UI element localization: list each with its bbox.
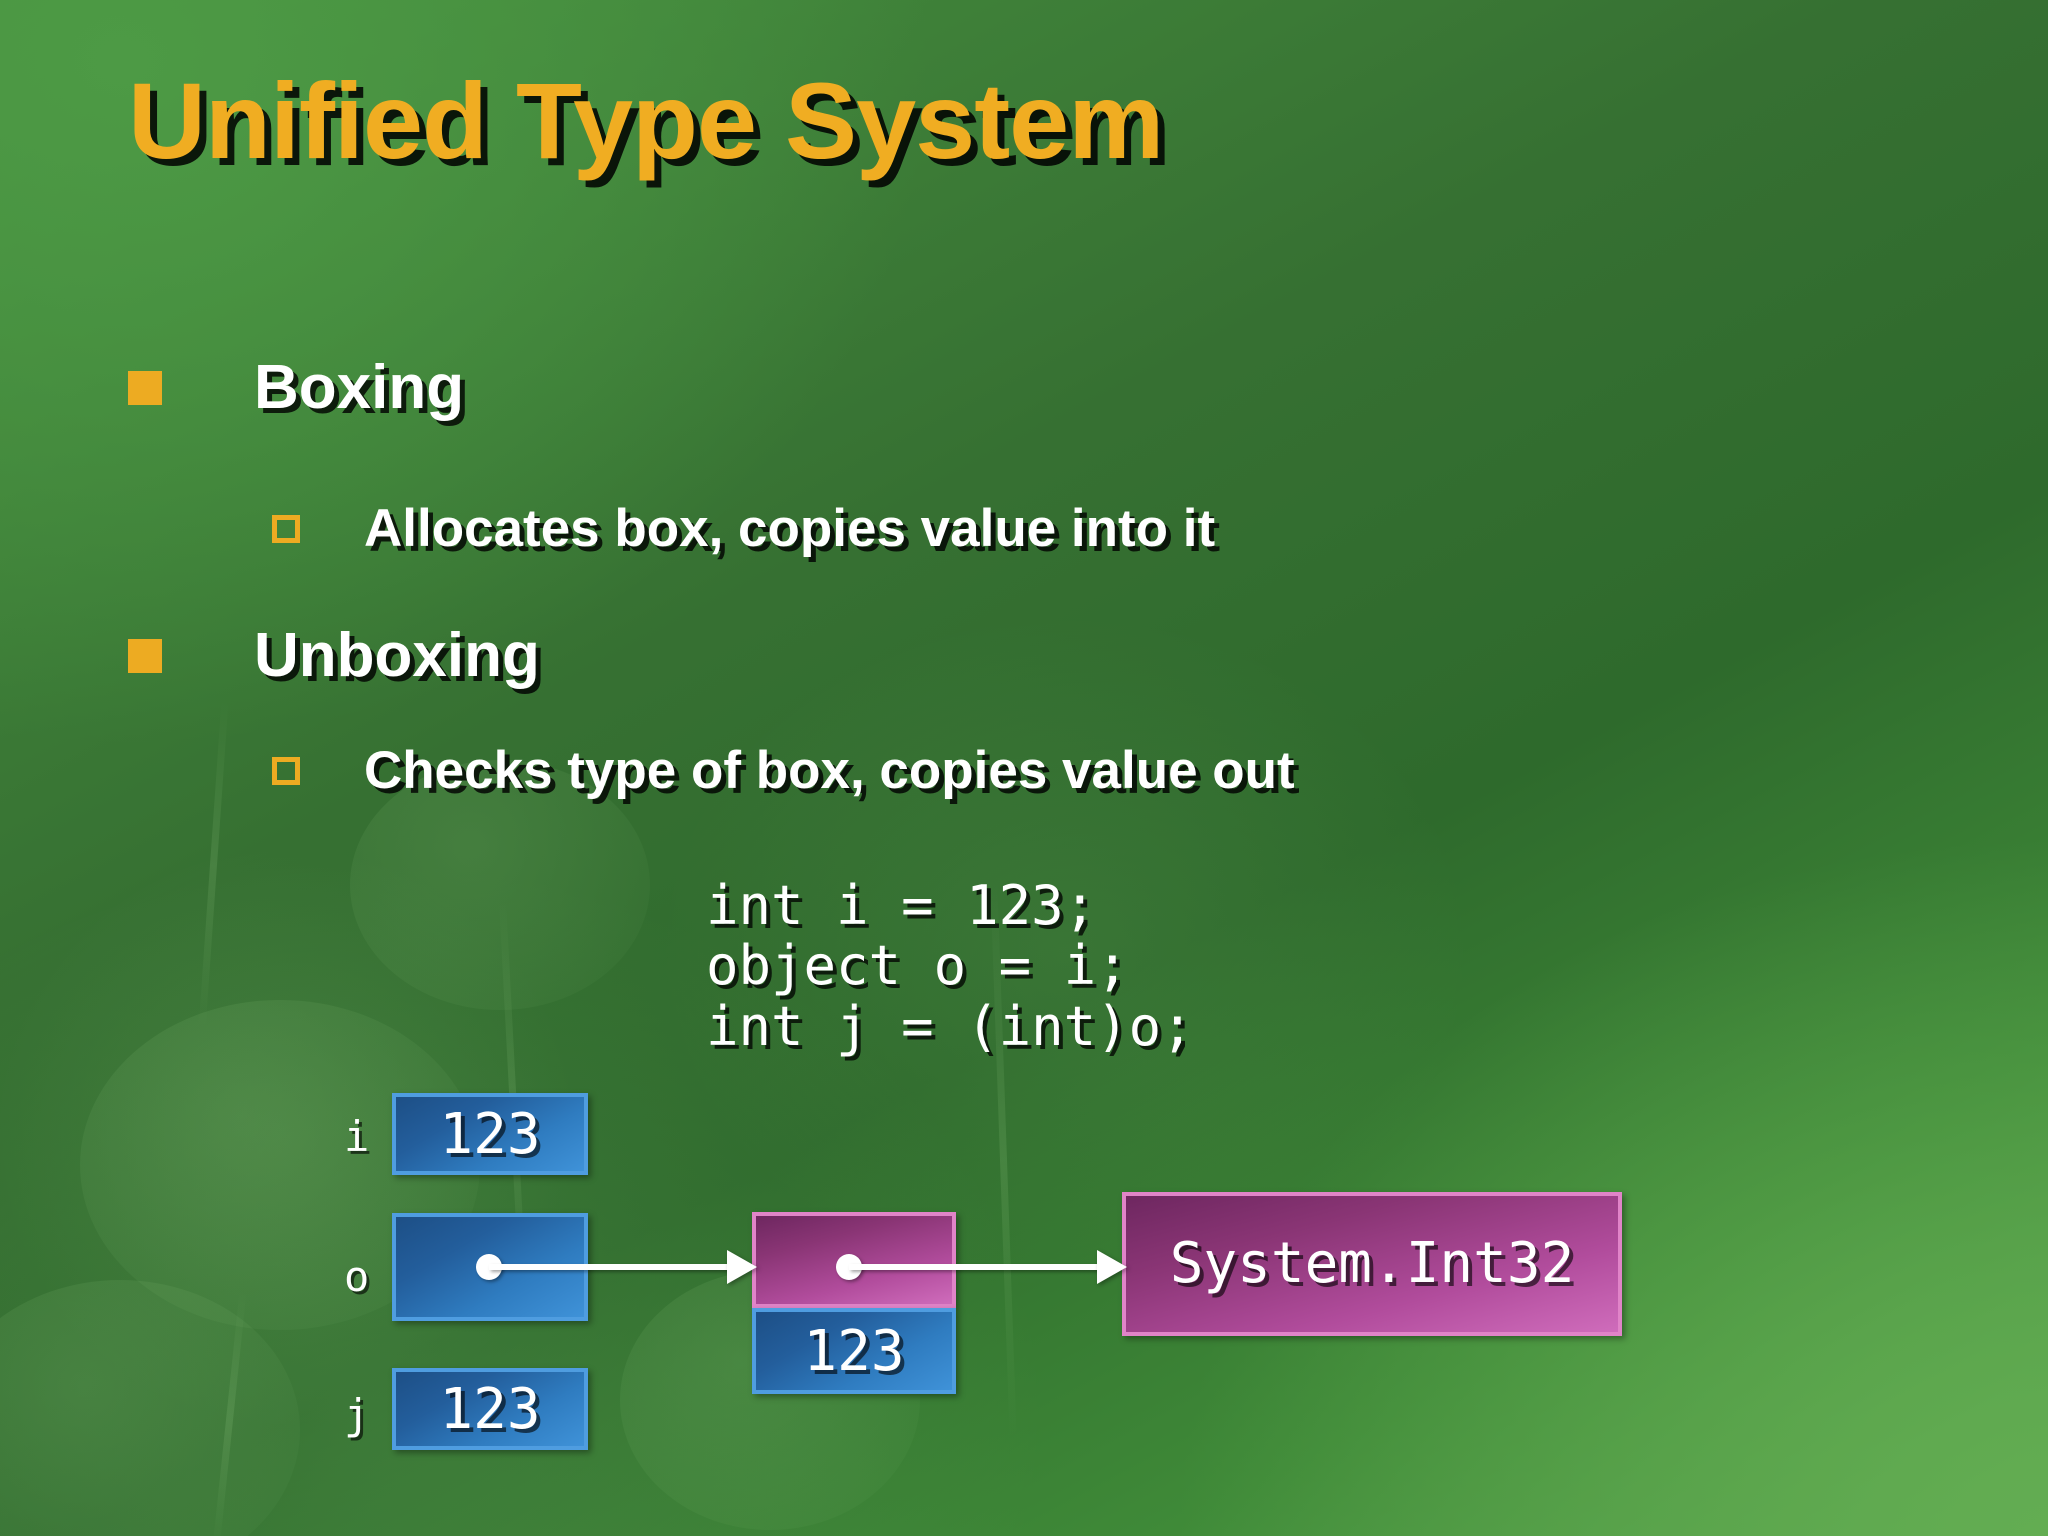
- type-descriptor-label: System.Int32: [1164, 1235, 1581, 1294]
- boxed-object-value-text: 123: [803, 1319, 904, 1384]
- filled-square-bullet-icon: [128, 639, 162, 673]
- variable-label-j: j: [344, 1390, 369, 1439]
- hollow-square-bullet-icon: [272, 515, 300, 543]
- variable-label-i: i: [344, 1112, 369, 1161]
- bullet-item-allocates-box: Allocates box, copies value into it: [272, 498, 1215, 559]
- connector-arrowhead-box-to-type: [1097, 1250, 1127, 1284]
- bullet-label: Checks type of box, copies value out: [364, 740, 1295, 801]
- page-title: Unified Type System: [128, 58, 1163, 183]
- bullet-label: Unboxing: [254, 620, 540, 691]
- background-stem-icon: [198, 700, 228, 1030]
- value-box-i: 123: [392, 1093, 588, 1175]
- hollow-square-bullet-icon: [272, 757, 300, 785]
- bullet-label: Allocates box, copies value into it: [364, 498, 1215, 559]
- bullet-item-unboxing: Unboxing: [128, 620, 540, 691]
- bullet-item-checks-type: Checks type of box, copies value out: [272, 740, 1295, 801]
- code-block: int i = 123; object o = i; int j = (int)…: [706, 876, 1194, 1057]
- value-box-i-value: 123: [439, 1102, 540, 1167]
- value-box-j: 123: [392, 1368, 588, 1450]
- bullet-item-boxing: Boxing: [128, 352, 464, 423]
- value-box-j-value: 123: [439, 1377, 540, 1442]
- slide-canvas: Unified Type System Boxing Allocates box…: [0, 0, 2048, 1536]
- connector-line-o-to-box: [489, 1264, 729, 1270]
- connector-arrowhead-o-to-box: [727, 1250, 757, 1284]
- variable-label-o: o: [344, 1252, 369, 1301]
- boxed-object-value: 123: [752, 1308, 956, 1394]
- bullet-label: Boxing: [254, 352, 464, 423]
- filled-square-bullet-icon: [128, 371, 162, 405]
- connector-line-box-to-type: [849, 1264, 1099, 1270]
- type-descriptor-box: System.Int32: [1122, 1192, 1622, 1336]
